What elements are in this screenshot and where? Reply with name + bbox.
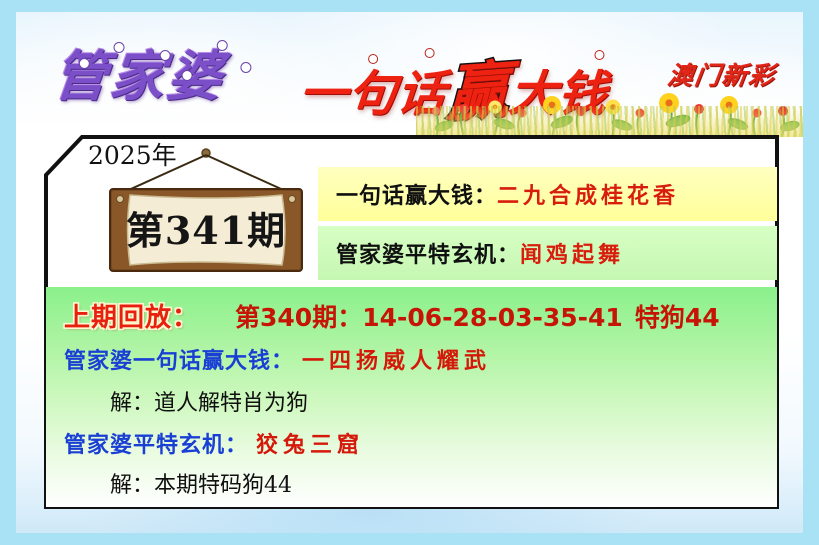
- replay-entry-2-label: 管家婆平特玄机：: [64, 433, 248, 458]
- issue-sign: 第341期: [96, 145, 316, 275]
- replay-entry-2-value: 狡兔三窟: [256, 433, 364, 458]
- replay-entry-1-label: 管家婆一句话赢大钱：: [64, 349, 294, 374]
- tip-row: 管家婆平特玄机：闻鸡起舞: [318, 237, 624, 269]
- replay-entry-2-answer: 解：本期特码狗44: [110, 467, 292, 499]
- bubble-dot-icon: [217, 40, 228, 51]
- bubble-dot-icon: [594, 50, 604, 60]
- replay-entry-1-value: 一四扬威人耀武: [302, 349, 491, 374]
- flower-meadow-decoration: [416, 80, 803, 137]
- bubble-dot-icon: [425, 48, 435, 58]
- bubble-dot-icon: [368, 54, 378, 64]
- tip-box-yellow: 一句话赢大钱：二九合成桂花香: [318, 167, 777, 221]
- grass-icon: [416, 106, 803, 137]
- replay-issue: 第340期：: [235, 303, 362, 332]
- bubble-dot-icon: [114, 42, 125, 53]
- replay-numbers: 14-06-28-03-35-41: [362, 303, 623, 332]
- tip-label: 一句话赢大钱：: [336, 184, 497, 209]
- replay-special: 特狗44: [635, 303, 720, 332]
- replay-title: 上期回放：: [64, 297, 199, 334]
- brand-title-text: 管家婆: [50, 45, 228, 108]
- bubble-dot-icon: [240, 62, 251, 73]
- issue-number: 第341期: [96, 200, 316, 255]
- header-banner: 管家婆 一句话赢大钱 澳门新彩: [16, 12, 803, 137]
- lottery-poster: 管家婆 一句话赢大钱 澳门新彩: [0, 0, 819, 545]
- replay-panel: 上期回放： 第340期：14-06-28-03-35-41特狗44 管家婆一句话…: [46, 287, 777, 507]
- tip-row: 一句话赢大钱：二九合成桂花香: [318, 178, 679, 210]
- replay-header-row: 上期回放： 第340期：14-06-28-03-35-41特狗44: [64, 297, 720, 334]
- bubble-dot-icon: [79, 58, 90, 69]
- tip-label: 管家婆平特玄机：: [336, 243, 520, 268]
- replay-entry-1-row: 管家婆一句话赢大钱：一四扬威人耀武: [64, 343, 491, 375]
- tip-value: 闻鸡起舞: [520, 243, 624, 268]
- tip-box-green: 管家婆平特玄机：闻鸡起舞: [318, 226, 777, 280]
- replay-entry-1-answer: 解：道人解特肖为狗: [110, 385, 308, 417]
- bubble-dot-icon: [182, 70, 193, 81]
- tip-value: 二九合成桂花香: [497, 184, 679, 209]
- bubble-dot-icon: [160, 50, 171, 61]
- brand-title: 管家婆: [50, 32, 229, 111]
- replay-entry-2-row: 管家婆平特玄机：狡兔三窟: [64, 427, 364, 459]
- replay-result: 第340期：14-06-28-03-35-41特狗44: [235, 298, 720, 334]
